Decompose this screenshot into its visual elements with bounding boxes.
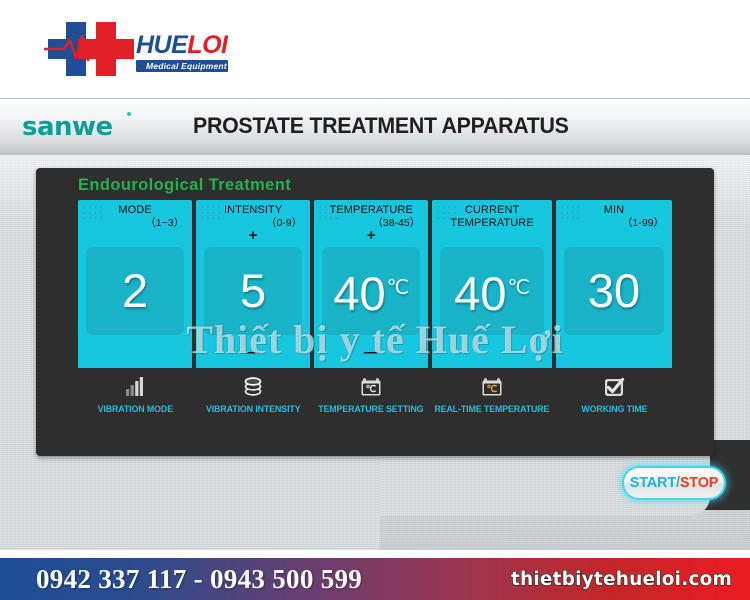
stacked-discs-icon: [240, 374, 266, 400]
svg-text:℃: ℃: [487, 384, 498, 395]
parameter-range: （1~3）: [80, 217, 190, 229]
parameter-value: 40℃: [454, 263, 530, 319]
registered-mark-icon: [127, 112, 131, 116]
brand-tagline: Medical Equipment: [136, 60, 228, 72]
device-header-bar: sanwe PROSTATE TREATMENT APPARATUS: [0, 98, 750, 157]
parameter-column-current-temperature: CURRENT TEMPERATURE40℃℃REAL-TIME TEMPERA…: [432, 200, 556, 422]
body-lower-surface: [0, 455, 380, 550]
contact-banner: 0942 337 117 - 0943 500 599 thietbiytehu…: [0, 558, 750, 600]
parameter-value-unit: ℃: [508, 277, 530, 299]
parameter-column-mode: MODE（1~3）2VIBRATION MODE: [78, 200, 196, 422]
parameter-name: CURRENT TEMPERATURE: [434, 204, 550, 229]
function-button[interactable]: VIBRATION MODE: [78, 368, 192, 422]
parameter-value: 30: [588, 266, 640, 316]
brand-logo: HUELOI Medical Equipment: [48, 20, 228, 78]
parameter-header: CURRENT TEMPERATURE: [432, 204, 552, 229]
parameter-value-box[interactable]: 40℃: [322, 247, 420, 335]
decrement-button[interactable]: —: [314, 348, 428, 358]
brand-name-secondary: LOI: [187, 31, 227, 59]
increment-button[interactable]: +: [196, 230, 310, 242]
parameter-value: 2: [122, 266, 148, 316]
parameter-header: TEMPERATURE（38-45）: [314, 204, 428, 229]
function-button[interactable]: ℃REAL-TIME TEMPERATURE: [432, 368, 552, 422]
parameter-value-box[interactable]: 5: [204, 247, 302, 335]
parameter-value-unit: ℃: [387, 277, 409, 299]
parameter-value-number: 40: [333, 267, 385, 320]
manufacturer-logo: sanwe: [22, 112, 113, 142]
parameter-value-box[interactable]: 2: [86, 247, 184, 335]
parameter-header: MIN（1-99）: [556, 204, 672, 229]
stop-label: STOP: [680, 475, 718, 491]
parameter-value-number: 30: [588, 264, 640, 317]
function-label: WORKING TIME: [581, 404, 647, 414]
parameter-value: 5: [240, 266, 266, 316]
thermometer-realtime-icon: ℃: [479, 374, 505, 400]
start-stop-button[interactable]: START/STOP: [624, 468, 724, 498]
parameter-column-min: MIN（1-99）30WORKING TIME: [556, 200, 672, 422]
parameter-value-box[interactable]: 30: [564, 247, 664, 335]
function-button[interactable]: WORKING TIME: [556, 368, 672, 422]
start-label: START/: [630, 475, 680, 491]
parameter-column-intensity: INTENSITY（0-9）+—5VIBRATION INTENSITY: [196, 200, 314, 422]
function-button[interactable]: ℃TEMPERATURE SETTING: [314, 368, 428, 422]
increment-button[interactable]: +: [314, 230, 428, 242]
bar-chart-icon: [122, 374, 148, 400]
decrement-button[interactable]: —: [196, 348, 310, 358]
parameter-value-number: 5: [240, 264, 266, 317]
function-label: VIBRATION INTENSITY: [206, 404, 301, 414]
page-title: PROSTATE TREATMENT APPARATUS: [193, 113, 569, 139]
parameter-panel: MODE（1~3）2: [78, 200, 192, 368]
thermometer-setting-icon: ℃: [358, 374, 384, 400]
parameter-name: INTENSITY: [198, 204, 308, 216]
checkbox-clock-icon: [601, 374, 627, 400]
device-screen: Endourological Treatment MODE（1~3）2VIBRA…: [36, 168, 714, 456]
parameter-panel: MIN（1-99）30: [556, 200, 672, 368]
parameter-range: （1-99）: [558, 217, 670, 229]
parameter-name: MODE: [80, 204, 190, 216]
svg-text:℃: ℃: [366, 384, 377, 395]
parameter-column-temperature: TEMPERATURE（38-45）+—40℃℃TEMPERATURE SETT…: [314, 200, 432, 422]
parameter-columns: MODE（1~3）2VIBRATION MODEINTENSITY（0-9）+—…: [78, 200, 672, 422]
parameter-value: 40℃: [333, 263, 409, 319]
phone-numbers: 0942 337 117 - 0943 500 599: [36, 564, 362, 595]
parameter-value-number: 2: [122, 264, 148, 317]
parameter-panel: CURRENT TEMPERATURE40℃: [432, 200, 552, 368]
website-url[interactable]: thietbiytehueloi.com: [511, 569, 732, 590]
function-label: VIBRATION MODE: [97, 404, 172, 414]
parameter-header: MODE（1~3）: [78, 204, 192, 229]
function-button[interactable]: VIBRATION INTENSITY: [196, 368, 310, 422]
parameter-panel: INTENSITY（0-9）+—5: [196, 200, 310, 368]
parameter-value-number: 40: [454, 267, 506, 320]
parameter-panel: TEMPERATURE（38-45）+—40℃: [314, 200, 428, 368]
parameter-name: TEMPERATURE: [316, 204, 426, 216]
function-label: REAL-TIME TEMPERATURE: [435, 404, 550, 414]
brand-wordmark: HUELOI: [136, 32, 232, 59]
parameter-value-box[interactable]: 40℃: [440, 247, 544, 335]
logo-area: HUELOI Medical Equipment: [0, 0, 750, 98]
parameter-name: MIN: [558, 204, 670, 216]
function-label: TEMPERATURE SETTING: [319, 404, 424, 414]
parameter-header: INTENSITY（0-9）: [196, 204, 310, 229]
treatment-mode-title: Endourological Treatment: [78, 176, 291, 195]
brand-name-primary: HUE: [136, 31, 187, 59]
